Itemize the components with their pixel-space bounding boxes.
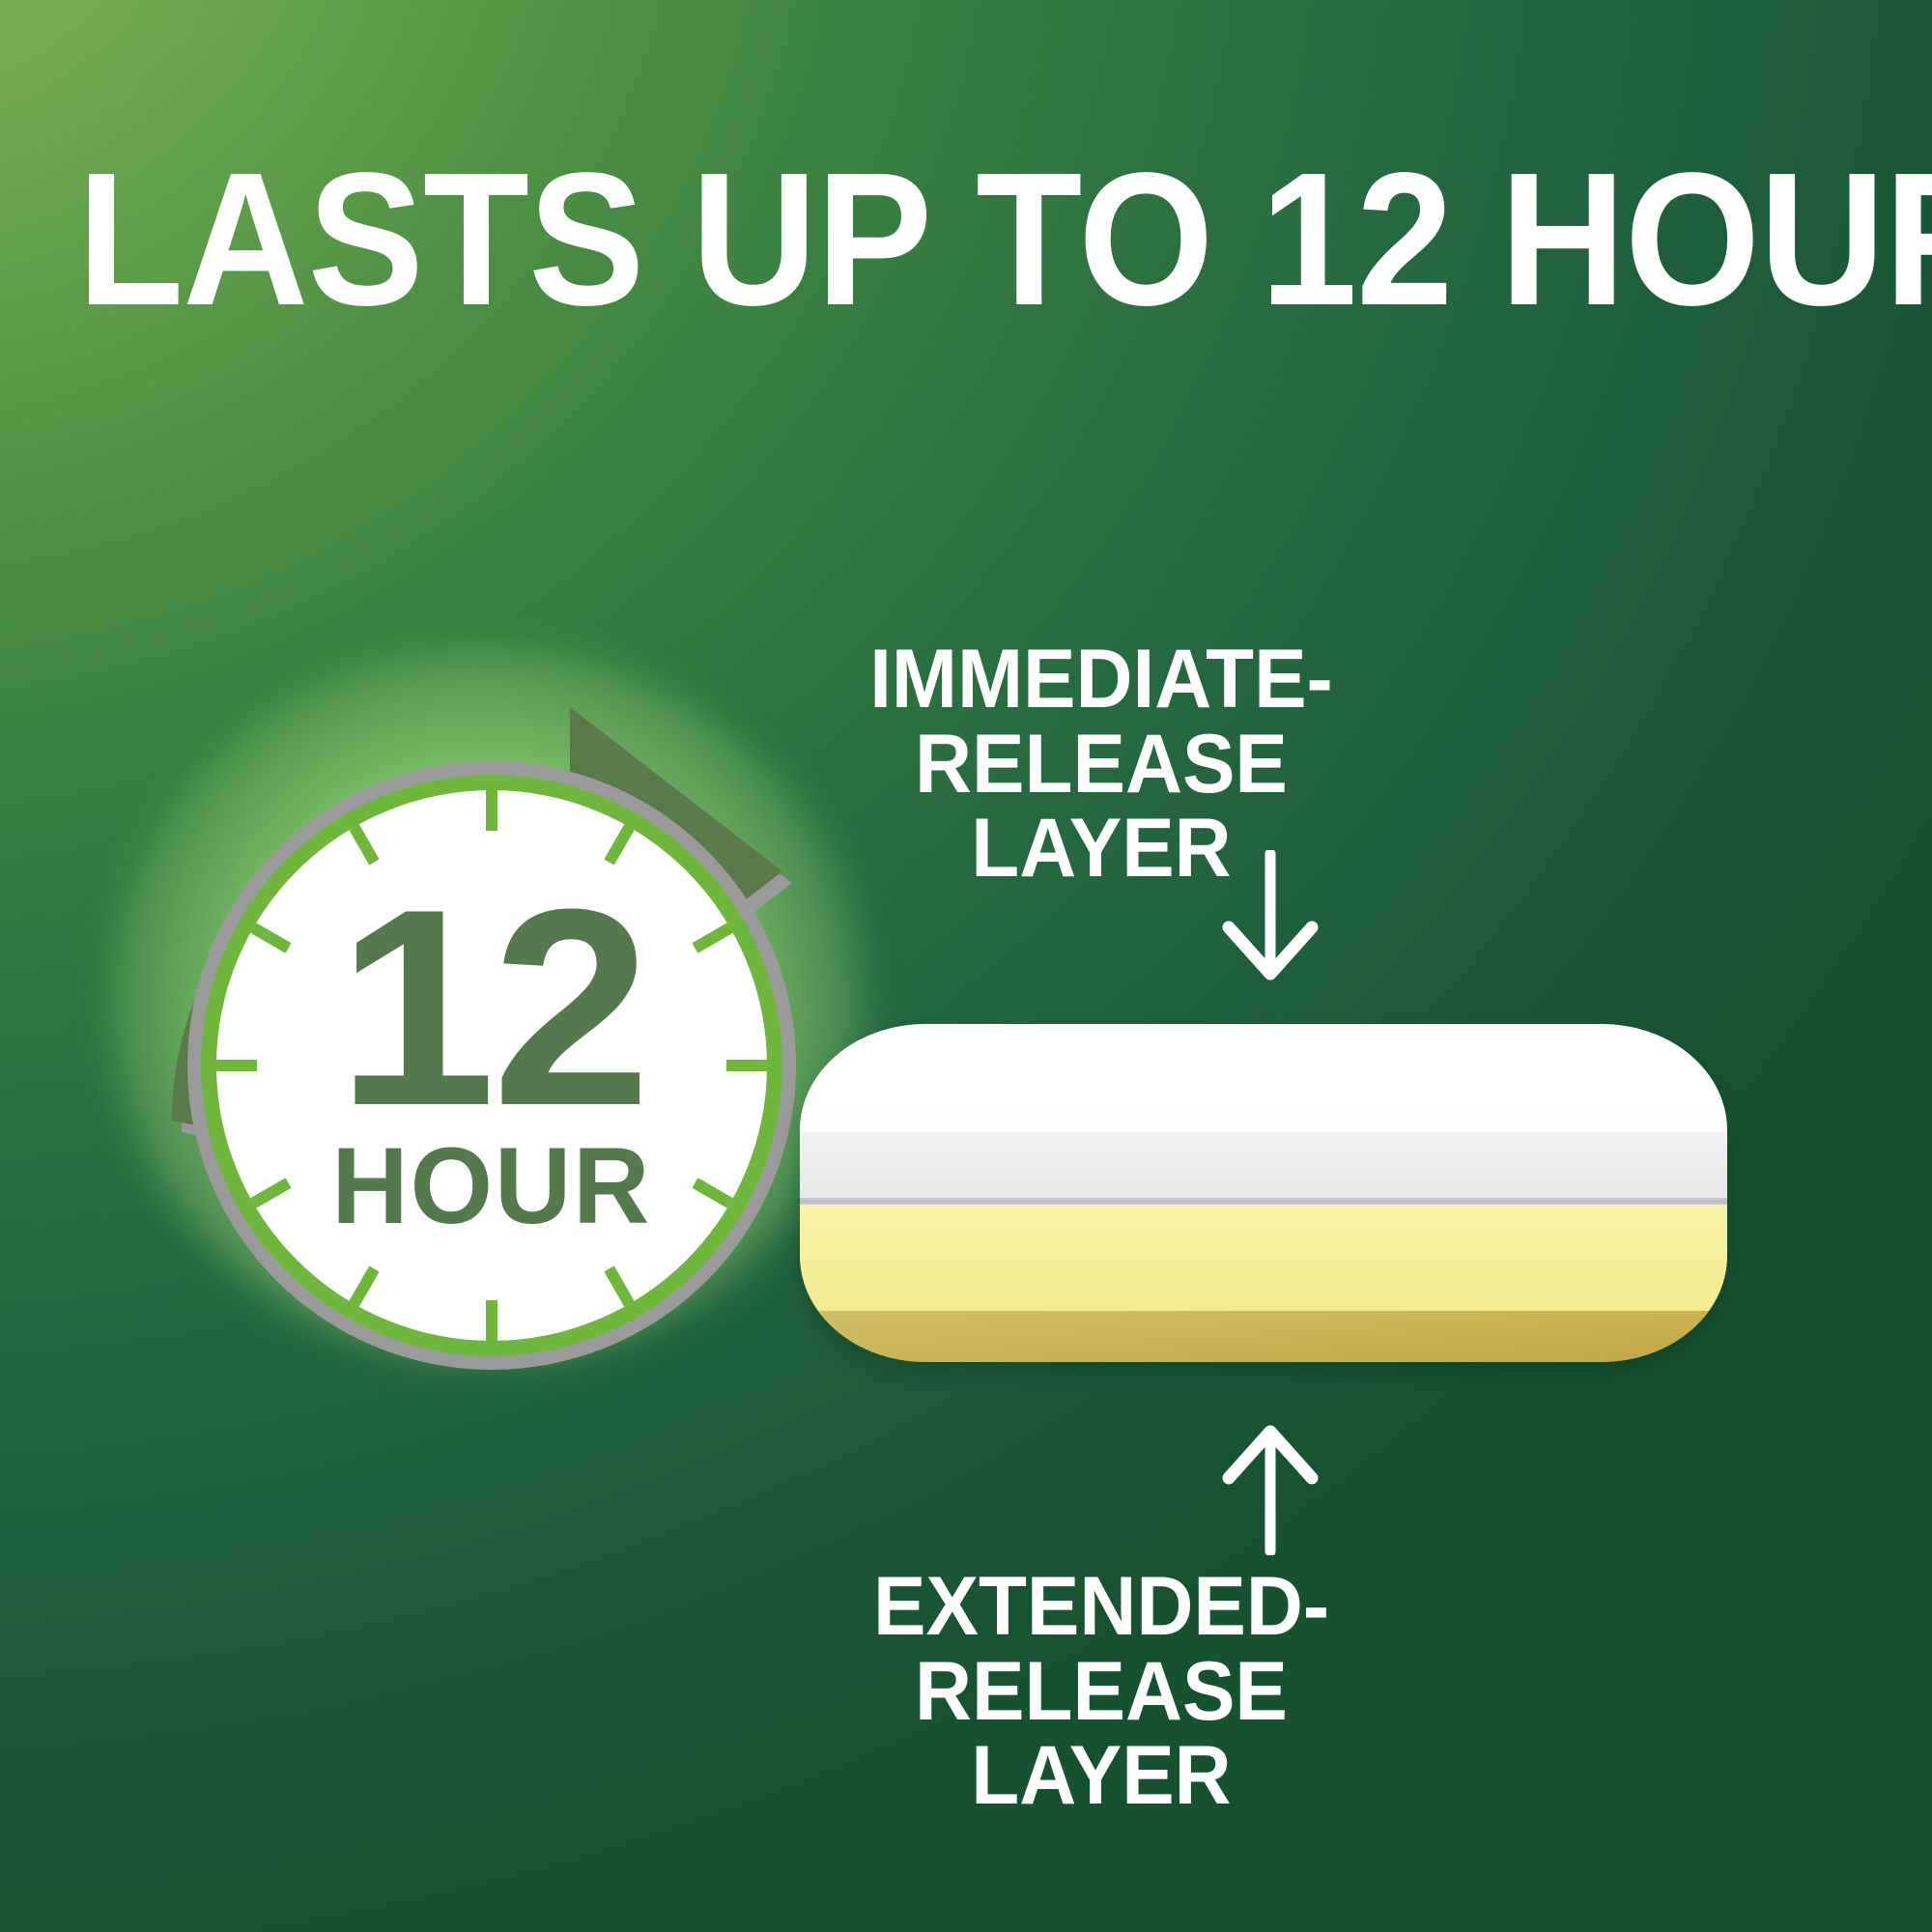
immediate-release-bevel xyxy=(800,1132,1727,1198)
immediate-release-layer-label: IMMEDIATE-RELEASE LAYER xyxy=(781,638,1423,892)
immediate-release-layer xyxy=(800,1024,1727,1132)
extended-release-bevel xyxy=(800,1311,1727,1362)
bilayer-tablet-icon xyxy=(800,1024,1727,1362)
product-claim-graphic: LASTS UP TO 12 HOURS xyxy=(0,0,1932,1932)
extended-release-layer-label: EXTENDED-RELEASE LAYER xyxy=(781,1565,1423,1819)
layer-divider xyxy=(800,1198,1727,1205)
clock-hours-unit: HOUR xyxy=(331,1132,651,1240)
clock-12-hour-icon: 12 HOUR xyxy=(116,618,879,1381)
arrow-up-icon xyxy=(1217,1420,1323,1555)
clock-label-group: 12 HOUR xyxy=(216,790,767,1341)
arrow-down-icon xyxy=(1217,850,1323,985)
clock-hours-number: 12 xyxy=(337,891,647,1126)
page-title: LASTS UP TO 12 HOURS xyxy=(77,145,1855,334)
extended-release-layer xyxy=(800,1205,1727,1311)
